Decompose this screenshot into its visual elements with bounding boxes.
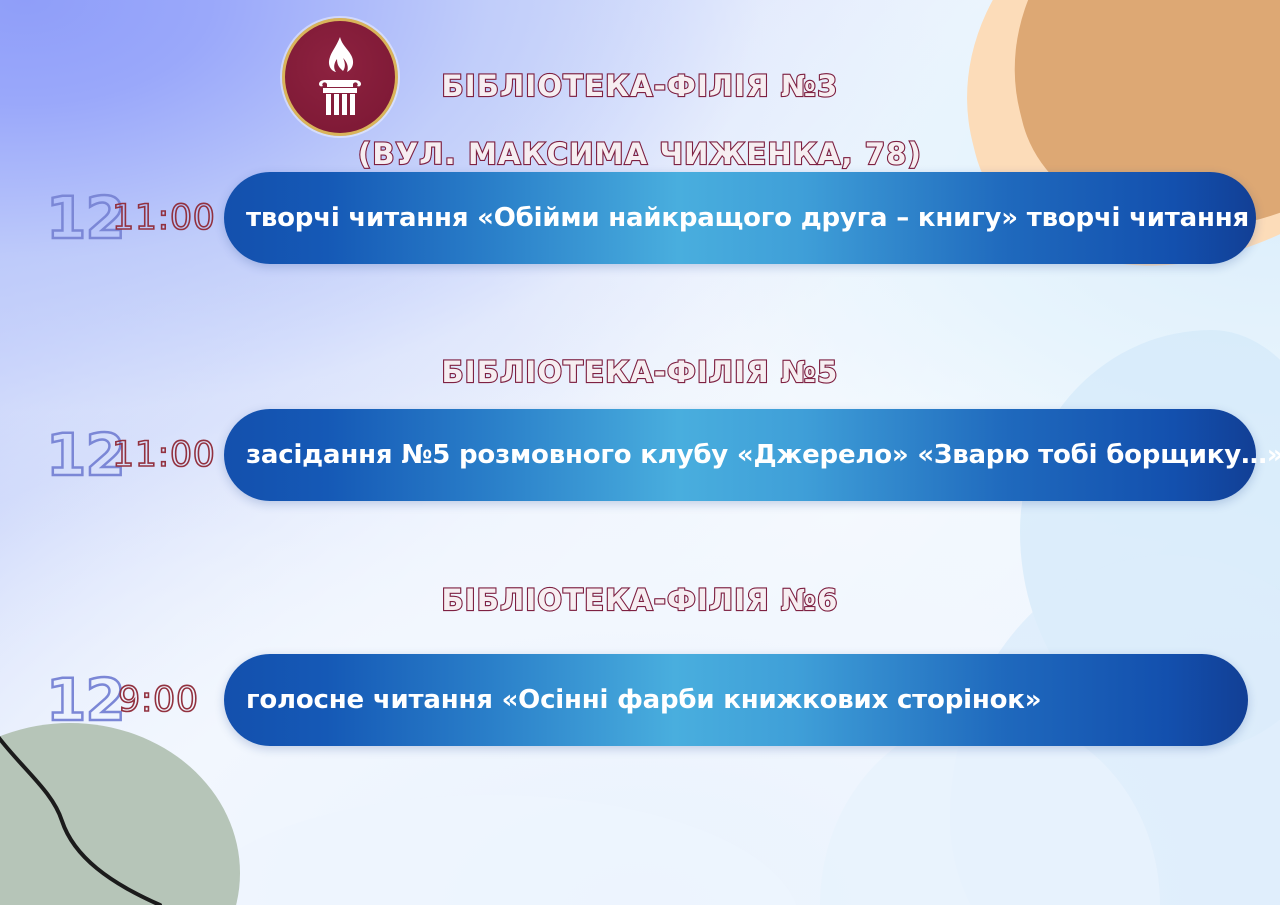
event-day-3: 12 bbox=[46, 671, 125, 729]
venue-name-3: БІБЛІОТЕКА-ФІЛІЯ №6 bbox=[0, 584, 1280, 618]
event-row: 12 9:00 голосне читання «Осінні фарби кн… bbox=[0, 652, 1280, 748]
venue-name-2: БІБЛІОТЕКА-ФІЛІЯ №5 bbox=[0, 356, 1280, 390]
event-title-3: голосне читання «Осінні фарби книжкових … bbox=[246, 686, 1041, 715]
green-blob-shape bbox=[0, 723, 240, 905]
event-title-1: творчі читання «Обійми найкращого друга … bbox=[246, 204, 1249, 233]
event-title-2: засідання №5 розмовного клубу «Джерело» … bbox=[246, 441, 1280, 470]
poster-canvas: БІБЛІОТЕКА-ФІЛІЯ №3 (ВУЛ. МАКСИМА ЧИЖЕНК… bbox=[0, 0, 1280, 905]
venue-name-1: БІБЛІОТЕКА-ФІЛІЯ №3 bbox=[0, 70, 1280, 104]
event-time-2: 11:00 bbox=[112, 435, 215, 475]
venue-address-1: (ВУЛ. МАКСИМА ЧИЖЕНКА, 78) bbox=[0, 138, 1280, 172]
event-pill-2[interactable]: засідання №5 розмовного клубу «Джерело» … bbox=[224, 409, 1256, 501]
event-time-3: 9:00 bbox=[118, 680, 199, 720]
event-pill-1[interactable]: творчі читання «Обійми найкращого друга … bbox=[224, 172, 1256, 264]
event-row: 12 11:00 творчі читання «Обійми найкращо… bbox=[0, 170, 1280, 266]
bottom-wave-shape bbox=[180, 795, 800, 905]
event-pill-3[interactable]: голосне читання «Осінні фарби книжкових … bbox=[224, 654, 1248, 746]
event-row: 12 11:00 засідання №5 розмовного клубу «… bbox=[0, 407, 1280, 503]
event-time-1: 11:00 bbox=[112, 198, 215, 238]
